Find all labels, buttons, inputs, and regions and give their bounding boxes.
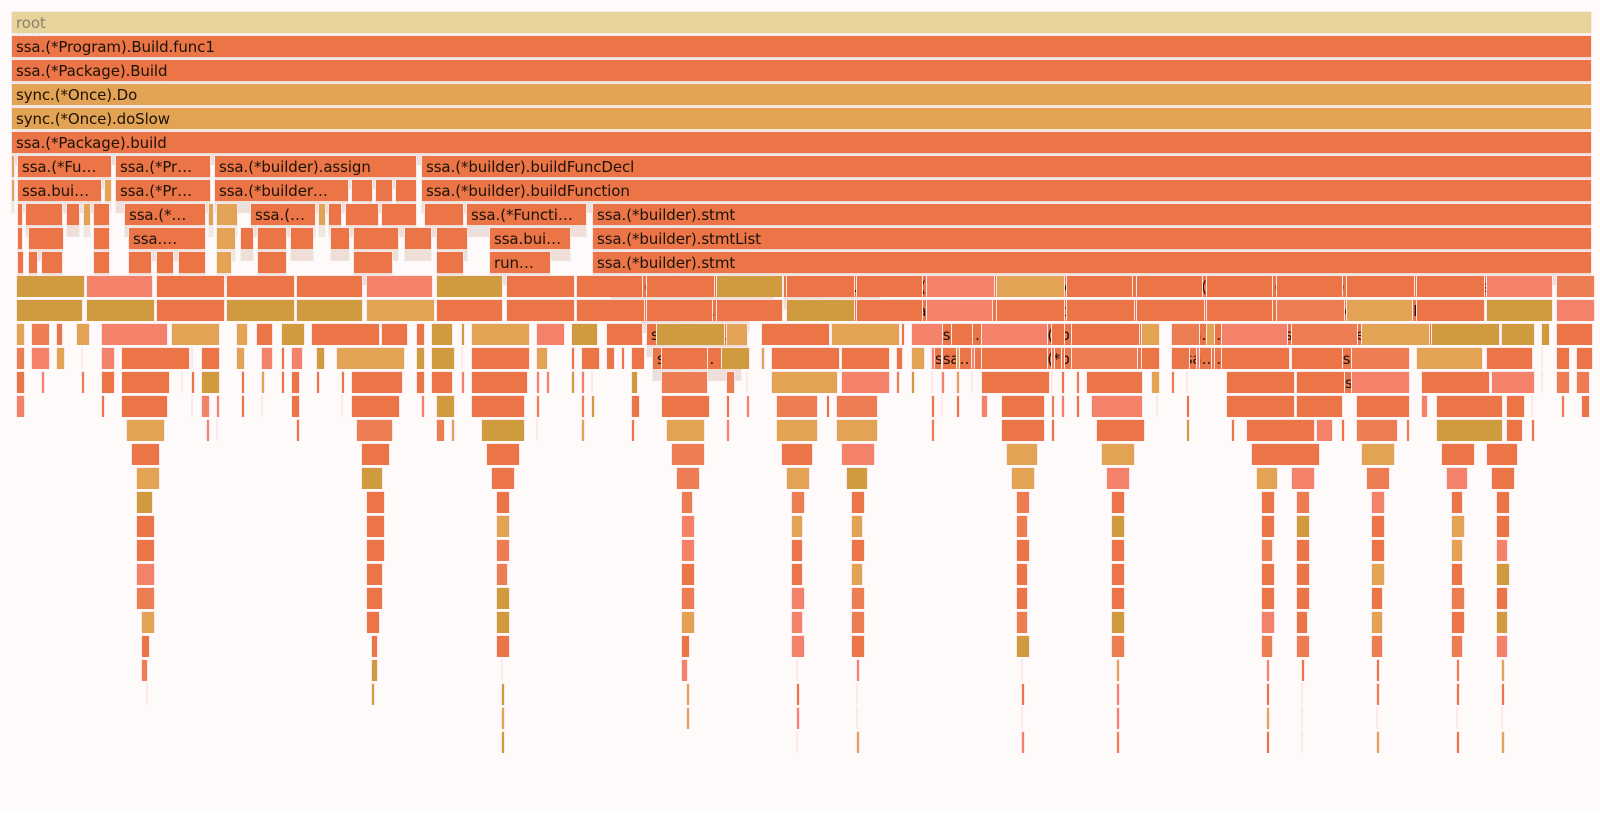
flame-frame-unlabeled[interactable] xyxy=(836,419,878,441)
flame-frame-unlabeled[interactable] xyxy=(791,563,803,585)
flame-frame-unlabeled[interactable] xyxy=(281,347,285,369)
flame-frame-unlabeled[interactable] xyxy=(421,395,425,417)
flame-frame-unlabeled[interactable] xyxy=(1451,587,1465,609)
flame-frame-unlabeled[interactable] xyxy=(1086,371,1143,393)
flame-frame-unlabeled[interactable] xyxy=(536,371,540,393)
flame-frame-unlabeled[interactable] xyxy=(241,371,245,393)
flame-frame-unlabeled[interactable] xyxy=(661,395,710,417)
flame-frame-unlabeled[interactable] xyxy=(726,419,730,441)
flame-frame-unlabeled[interactable] xyxy=(16,323,25,345)
flame-frame-unlabeled[interactable] xyxy=(1356,419,1398,441)
flame-frame-unlabeled[interactable] xyxy=(496,563,508,585)
flame-frame-unlabeled[interactable] xyxy=(1186,371,1188,393)
flame-frame[interactable]: ssa.(*builder).buildFunction xyxy=(421,179,1592,201)
flame-frame-unlabeled[interactable] xyxy=(901,323,905,345)
flame-frame-unlabeled[interactable] xyxy=(851,587,865,609)
flame-frame-unlabeled[interactable] xyxy=(786,299,855,321)
flame-frame-unlabeled[interactable] xyxy=(791,491,805,513)
flame-frame-unlabeled[interactable] xyxy=(375,179,393,201)
flame-frame-unlabeled[interactable] xyxy=(856,275,923,297)
flame-frame-unlabeled[interactable] xyxy=(666,419,705,441)
flame-frame-unlabeled[interactable] xyxy=(136,515,155,537)
flame-frame-unlabeled[interactable] xyxy=(926,299,993,321)
flame-frame-unlabeled[interactable] xyxy=(371,659,378,681)
flame-frame-unlabeled[interactable] xyxy=(1016,515,1028,537)
flame-frame-unlabeled[interactable] xyxy=(128,251,152,273)
flame-frame-unlabeled[interactable] xyxy=(771,371,838,393)
flame-frame-unlabeled[interactable] xyxy=(1261,539,1273,561)
flame-frame-unlabeled[interactable] xyxy=(1451,563,1463,585)
flame-frame-unlabeled[interactable] xyxy=(1361,323,1430,345)
flame-frame-unlabeled[interactable] xyxy=(1556,323,1593,345)
flame-frame-unlabeled[interactable] xyxy=(291,395,300,417)
flame-frame-unlabeled[interactable] xyxy=(1581,395,1590,417)
flame-frame-unlabeled[interactable] xyxy=(681,491,693,513)
flame-frame-unlabeled[interactable] xyxy=(1266,731,1270,753)
flame-frame-unlabeled[interactable] xyxy=(726,395,730,417)
flame-frame-unlabeled[interactable] xyxy=(851,539,865,561)
flame-frame-unlabeled[interactable] xyxy=(496,539,510,561)
flame-frame-unlabeled[interactable] xyxy=(1301,707,1303,729)
flame-frame-unlabeled[interactable] xyxy=(208,203,214,225)
flame-frame-unlabeled[interactable] xyxy=(1221,323,1288,345)
flame-frame-unlabeled[interactable] xyxy=(366,275,433,297)
flame-frame-unlabeled[interactable] xyxy=(836,395,878,417)
flame-frame-unlabeled[interactable] xyxy=(981,395,988,417)
flame-frame-unlabeled[interactable] xyxy=(681,563,695,585)
flame-frame-unlabeled[interactable] xyxy=(846,467,868,489)
flame-frame-unlabeled[interactable] xyxy=(956,371,960,393)
flame-frame-unlabeled[interactable] xyxy=(1116,659,1120,681)
flame-frame-unlabeled[interactable] xyxy=(1021,659,1023,681)
flame-frame-unlabeled[interactable] xyxy=(1291,323,1358,345)
flame-frame-unlabeled[interactable] xyxy=(1186,395,1190,417)
flame-frame-unlabeled[interactable] xyxy=(791,635,805,657)
flame-frame-unlabeled[interactable] xyxy=(1051,419,1055,441)
flame-frame-unlabeled[interactable] xyxy=(257,227,287,249)
flame-frame-unlabeled[interactable] xyxy=(1356,395,1410,417)
flame-frame-unlabeled[interactable] xyxy=(451,419,455,441)
flame-frame-unlabeled[interactable] xyxy=(536,347,548,369)
flame-frame-unlabeled[interactable] xyxy=(1151,371,1160,393)
flame-frame-unlabeled[interactable] xyxy=(571,347,575,369)
flame-frame-unlabeled[interactable] xyxy=(576,275,643,297)
flame-frame-unlabeled[interactable] xyxy=(676,467,700,489)
flame-frame-unlabeled[interactable] xyxy=(1266,683,1270,705)
flame-frame-unlabeled[interactable] xyxy=(345,203,379,225)
flame-frame-unlabeled[interactable] xyxy=(66,203,80,225)
flame-frame-unlabeled[interactable] xyxy=(1266,659,1270,681)
flame-frame[interactable]: ssa.(*Functi… xyxy=(466,203,587,225)
flame-frame-unlabeled[interactable] xyxy=(1206,275,1273,297)
flame-frame-unlabeled[interactable] xyxy=(1421,371,1490,393)
flame-frame-unlabeled[interactable] xyxy=(1296,515,1310,537)
flame-frame-unlabeled[interactable] xyxy=(1261,587,1275,609)
flame-frame-unlabeled[interactable] xyxy=(16,371,25,393)
flame-frame-unlabeled[interactable] xyxy=(146,683,148,705)
flame-frame-unlabeled[interactable] xyxy=(1006,443,1038,465)
flame-frame-unlabeled[interactable] xyxy=(1196,347,1200,369)
flame-frame-unlabeled[interactable] xyxy=(646,299,713,321)
flame-frame-unlabeled[interactable] xyxy=(1016,491,1030,513)
flame-frame-unlabeled[interactable] xyxy=(181,371,183,393)
flame-frame-unlabeled[interactable] xyxy=(1296,371,1345,393)
flame-frame-unlabeled[interactable] xyxy=(1506,419,1523,441)
flame-frame-unlabeled[interactable] xyxy=(16,299,83,321)
flame-frame-unlabeled[interactable] xyxy=(1066,275,1133,297)
flame-frame-unlabeled[interactable] xyxy=(216,227,236,249)
flame-frame-unlabeled[interactable] xyxy=(1186,419,1190,441)
flame-frame-unlabeled[interactable] xyxy=(1226,395,1295,417)
flame-frame-unlabeled[interactable] xyxy=(496,611,510,633)
flame-frame-unlabeled[interactable] xyxy=(796,731,798,753)
flame-frame-unlabeled[interactable] xyxy=(216,395,220,417)
flame-frame-unlabeled[interactable] xyxy=(1116,683,1120,705)
flame-frame-unlabeled[interactable] xyxy=(83,203,91,225)
flame-frame-unlabeled[interactable] xyxy=(1371,515,1385,537)
flame-frame-unlabeled[interactable] xyxy=(1371,611,1383,633)
flame-frame-unlabeled[interactable] xyxy=(661,371,708,393)
flame-frame-unlabeled[interactable] xyxy=(591,395,595,417)
flame-frame-unlabeled[interactable] xyxy=(191,395,193,417)
flame-frame-unlabeled[interactable] xyxy=(791,539,803,561)
flame-frame-unlabeled[interactable] xyxy=(536,323,565,345)
flame-frame[interactable]: ssa.(*Pr… xyxy=(115,155,211,177)
flame-frame-unlabeled[interactable] xyxy=(1541,371,1543,393)
flame-frame-unlabeled[interactable] xyxy=(1206,323,1215,345)
flame-frame-unlabeled[interactable] xyxy=(1076,395,1080,417)
flame-frame-unlabeled[interactable] xyxy=(121,395,168,417)
flame-frame-unlabeled[interactable] xyxy=(536,395,540,417)
flame-frame-unlabeled[interactable] xyxy=(506,299,575,321)
flame-frame-unlabeled[interactable] xyxy=(76,323,90,345)
flame-frame-unlabeled[interactable] xyxy=(851,515,863,537)
flame-frame-unlabeled[interactable] xyxy=(1301,659,1305,681)
flame-frame-unlabeled[interactable] xyxy=(761,347,765,369)
flame-frame-unlabeled[interactable] xyxy=(226,275,295,297)
flame-frame-unlabeled[interactable] xyxy=(1261,635,1273,657)
flame-frame-unlabeled[interactable] xyxy=(681,659,688,681)
flame-frame-unlabeled[interactable] xyxy=(1431,323,1500,345)
flame-frame-unlabeled[interactable] xyxy=(17,227,23,249)
flame-frame-unlabeled[interactable] xyxy=(1291,467,1315,489)
flame-frame-unlabeled[interactable] xyxy=(156,275,225,297)
flame-frame-unlabeled[interactable] xyxy=(956,395,960,417)
flame-frame-unlabeled[interactable] xyxy=(771,347,840,369)
flame-frame-unlabeled[interactable] xyxy=(856,707,858,729)
flame-frame-unlabeled[interactable] xyxy=(971,371,973,393)
flame-frame-unlabeled[interactable] xyxy=(1501,323,1535,345)
flame-frame-unlabeled[interactable] xyxy=(581,347,600,369)
flame-frame-unlabeled[interactable] xyxy=(261,371,265,393)
flame-frame-unlabeled[interactable] xyxy=(416,347,425,369)
flame-frame-unlabeled[interactable] xyxy=(1296,611,1308,633)
flame-frame-unlabeled[interactable] xyxy=(1061,371,1065,393)
flame-frame-unlabeled[interactable] xyxy=(126,419,165,441)
flame-frame-unlabeled[interactable] xyxy=(471,347,530,369)
flame-frame[interactable]: ssa.(*builder).stmt xyxy=(592,203,1592,225)
flame-frame-unlabeled[interactable] xyxy=(351,179,373,201)
flame-frame-unlabeled[interactable] xyxy=(381,203,417,225)
flame-frame-unlabeled[interactable] xyxy=(791,611,803,633)
flame-frame-unlabeled[interactable] xyxy=(1506,395,1525,417)
flame-frame-unlabeled[interactable] xyxy=(911,323,943,345)
flame-frame-unlabeled[interactable] xyxy=(311,323,380,345)
flame-frame-unlabeled[interactable] xyxy=(856,659,860,681)
flame-frame-unlabeled[interactable] xyxy=(1246,419,1315,441)
flame-frame-unlabeled[interactable] xyxy=(226,299,295,321)
flame-frame-unlabeled[interactable] xyxy=(786,275,855,297)
flame-frame-unlabeled[interactable] xyxy=(1351,347,1410,369)
flame-frame-unlabeled[interactable] xyxy=(136,539,155,561)
flame-frame-unlabeled[interactable] xyxy=(1111,515,1125,537)
flame-frame-unlabeled[interactable] xyxy=(941,395,943,417)
flame-frame-unlabeled[interactable] xyxy=(581,371,585,393)
flame-frame-unlabeled[interactable] xyxy=(941,371,945,393)
flame-frame-unlabeled[interactable] xyxy=(316,371,320,393)
flame-frame[interactable]: sync.(*Once).Do xyxy=(11,83,1592,105)
flame-frame-unlabeled[interactable] xyxy=(1096,419,1145,441)
flame-frame-unlabeled[interactable] xyxy=(1361,443,1395,465)
flame-frame-unlabeled[interactable] xyxy=(141,659,148,681)
flame-frame[interactable]: ssa.(*builder… xyxy=(214,179,349,201)
flame-frame-unlabeled[interactable] xyxy=(1366,467,1390,489)
flame-frame-unlabeled[interactable] xyxy=(1451,515,1465,537)
flame-frame-unlabeled[interactable] xyxy=(686,707,690,729)
flame-frame-unlabeled[interactable] xyxy=(1071,347,1138,369)
flame-frame-unlabeled[interactable] xyxy=(56,323,63,345)
flame-frame-unlabeled[interactable] xyxy=(851,491,865,513)
flame-frame-unlabeled[interactable] xyxy=(681,611,695,633)
flame-frame-unlabeled[interactable] xyxy=(1051,371,1053,393)
flame-frame-unlabeled[interactable] xyxy=(1021,683,1025,705)
flame-frame-unlabeled[interactable] xyxy=(281,323,305,345)
flame-frame-unlabeled[interactable] xyxy=(926,275,995,297)
flame-frame-unlabeled[interactable] xyxy=(576,299,645,321)
flame-frame-unlabeled[interactable] xyxy=(471,323,530,345)
flame-frame-unlabeled[interactable] xyxy=(81,347,83,369)
flame-frame-unlabeled[interactable] xyxy=(1011,467,1035,489)
flame-frame-unlabeled[interactable] xyxy=(1051,395,1055,417)
flame-frame-unlabeled[interactable] xyxy=(631,371,638,393)
flame-frame[interactable]: ssa.(*builder).buildFuncDecl xyxy=(421,155,1592,177)
flame-frame-unlabeled[interactable] xyxy=(496,635,510,657)
flame-frame-unlabeled[interactable] xyxy=(136,467,160,489)
flame-frame-unlabeled[interactable] xyxy=(1136,275,1203,297)
flame-frame-unlabeled[interactable] xyxy=(956,347,960,369)
flame-frame[interactable]: ssa.bui… xyxy=(489,227,571,249)
flame-frame-unlabeled[interactable] xyxy=(336,347,405,369)
flame-frame-unlabeled[interactable] xyxy=(1496,539,1508,561)
flame-frame-unlabeled[interactable] xyxy=(1111,563,1125,585)
flame-frame-unlabeled[interactable] xyxy=(28,251,38,273)
flame-frame-unlabeled[interactable] xyxy=(631,395,640,417)
flame-frame-unlabeled[interactable] xyxy=(416,371,425,393)
flame-frame-unlabeled[interactable] xyxy=(1111,611,1125,633)
flame-frame-unlabeled[interactable] xyxy=(1351,371,1410,393)
flame-frame-unlabeled[interactable] xyxy=(366,515,385,537)
flame-frame-unlabeled[interactable] xyxy=(136,587,155,609)
flame-frame[interactable]: ssa.(*builder).assign xyxy=(214,155,417,177)
flame-frame-unlabeled[interactable] xyxy=(981,347,1048,369)
flame-frame-unlabeled[interactable] xyxy=(436,419,445,441)
flame-frame-unlabeled[interactable] xyxy=(104,179,112,201)
flame-frame-unlabeled[interactable] xyxy=(366,587,383,609)
flame-frame-unlabeled[interactable] xyxy=(1531,419,1535,441)
flame-frame-unlabeled[interactable] xyxy=(841,347,890,369)
flame-frame[interactable]: ssa.(*Program).Build.func1 xyxy=(11,35,1592,57)
flame-frame[interactable]: ssa.bui… xyxy=(17,179,102,201)
flame-frame-unlabeled[interactable] xyxy=(1206,299,1273,321)
flame-frame-unlabeled[interactable] xyxy=(1456,707,1458,729)
flame-frame-unlabeled[interactable] xyxy=(1451,635,1463,657)
flame-frame-unlabeled[interactable] xyxy=(216,419,218,441)
flame-frame-unlabeled[interactable] xyxy=(356,419,393,441)
flame-frame-unlabeled[interactable] xyxy=(25,203,63,225)
flame-frame-unlabeled[interactable] xyxy=(1416,275,1485,297)
flame-frame-unlabeled[interactable] xyxy=(341,395,343,417)
flame-frame-unlabeled[interactable] xyxy=(1301,683,1303,705)
flame-frame-unlabeled[interactable] xyxy=(1141,323,1160,345)
flame-graph[interactable]: rootssa.(*Program).Build.func1ssa.(*Pack… xyxy=(0,0,1600,811)
flame-frame-unlabeled[interactable] xyxy=(501,731,505,753)
flame-frame-unlabeled[interactable] xyxy=(896,347,903,369)
flame-frame-unlabeled[interactable] xyxy=(826,395,830,417)
flame-frame-unlabeled[interactable] xyxy=(431,323,453,345)
flame-frame-unlabeled[interactable] xyxy=(395,179,417,201)
flame-frame-unlabeled[interactable] xyxy=(851,611,865,633)
flame-frame-unlabeled[interactable] xyxy=(501,659,503,681)
flame-frame-unlabeled[interactable] xyxy=(1486,299,1553,321)
flame-frame-unlabeled[interactable] xyxy=(1111,587,1125,609)
flame-frame-unlabeled[interactable] xyxy=(101,347,115,369)
flame-frame-unlabeled[interactable] xyxy=(461,371,465,393)
flame-frame-unlabeled[interactable] xyxy=(841,371,890,393)
flame-frame-unlabeled[interactable] xyxy=(656,323,725,345)
flame-frame-unlabeled[interactable] xyxy=(761,323,830,345)
flame-frame-unlabeled[interactable] xyxy=(1116,731,1120,753)
flame-frame-unlabeled[interactable] xyxy=(1266,707,1270,729)
flame-frame-unlabeled[interactable] xyxy=(1016,539,1030,561)
flame-frame-unlabeled[interactable] xyxy=(726,323,748,345)
flame-frame[interactable]: ssa.(*builder).stmtList xyxy=(592,227,1592,249)
flame-frame-unlabeled[interactable] xyxy=(291,347,303,369)
flame-frame-unlabeled[interactable] xyxy=(351,395,400,417)
flame-frame-unlabeled[interactable] xyxy=(1416,299,1485,321)
flame-frame-unlabeled[interactable] xyxy=(776,395,818,417)
flame-frame-unlabeled[interactable] xyxy=(506,275,575,297)
flame-frame-unlabeled[interactable] xyxy=(631,419,635,441)
flame-frame-unlabeled[interactable] xyxy=(216,251,232,273)
flame-frame-unlabeled[interactable] xyxy=(1441,443,1475,465)
flame-frame-unlabeled[interactable] xyxy=(1376,707,1378,729)
flame-frame-unlabeled[interactable] xyxy=(841,443,875,465)
flame-frame-unlabeled[interactable] xyxy=(341,371,345,393)
flame-frame-unlabeled[interactable] xyxy=(791,515,803,537)
flame-frame[interactable]: sync.(*Once).doSlow xyxy=(11,107,1592,129)
flame-frame-unlabeled[interactable] xyxy=(236,323,248,345)
flame-frame-unlabeled[interactable] xyxy=(236,347,245,369)
flame-frame[interactable]: ssa.(… xyxy=(250,203,316,225)
flame-frame-unlabeled[interactable] xyxy=(546,371,550,393)
flame-frame-unlabeled[interactable] xyxy=(1261,491,1275,513)
flame-frame-unlabeled[interactable] xyxy=(1156,395,1158,417)
flame-frame-unlabeled[interactable] xyxy=(56,347,65,369)
flame-frame-unlabeled[interactable] xyxy=(646,275,715,297)
flame-frame-unlabeled[interactable] xyxy=(261,395,263,417)
flame-frame-unlabeled[interactable] xyxy=(536,419,538,441)
flame-frame-unlabeled[interactable] xyxy=(796,683,800,705)
flame-frame-unlabeled[interactable] xyxy=(178,251,206,273)
flame-frame-unlabeled[interactable] xyxy=(257,251,287,273)
flame-frame-unlabeled[interactable] xyxy=(1501,659,1505,681)
flame-frame-unlabeled[interactable] xyxy=(1341,419,1345,441)
flame-frame[interactable]: ssa.(*builder).stmt xyxy=(592,251,1592,273)
flame-frame-unlabeled[interactable] xyxy=(16,395,25,417)
flame-frame-unlabeled[interactable] xyxy=(28,227,64,249)
flame-frame-unlabeled[interactable] xyxy=(1456,731,1460,753)
flame-frame-unlabeled[interactable] xyxy=(1051,323,1065,345)
flame-frame-unlabeled[interactable] xyxy=(1376,683,1380,705)
flame-frame-unlabeled[interactable] xyxy=(206,419,210,441)
flame-frame-unlabeled[interactable] xyxy=(726,371,735,393)
flame-frame-unlabeled[interactable] xyxy=(681,515,695,537)
flame-frame-unlabeled[interactable] xyxy=(1106,467,1130,489)
flame-frame-unlabeled[interactable] xyxy=(216,203,238,225)
flame-frame-unlabeled[interactable] xyxy=(1276,275,1343,297)
flame-frame-unlabeled[interactable] xyxy=(1276,299,1345,321)
flame-frame-unlabeled[interactable] xyxy=(1501,731,1505,753)
flame-frame-unlabeled[interactable] xyxy=(941,347,943,369)
flame-frame-unlabeled[interactable] xyxy=(41,251,63,273)
flame-frame-unlabeled[interactable] xyxy=(996,275,1065,297)
flame-frame-unlabeled[interactable] xyxy=(1496,611,1508,633)
flame-frame-unlabeled[interactable] xyxy=(1231,419,1235,441)
flame-frame-unlabeled[interactable] xyxy=(1001,395,1045,417)
flame-frame-unlabeled[interactable] xyxy=(1061,395,1065,417)
flame-frame-unlabeled[interactable] xyxy=(1556,275,1595,297)
flame-frame-unlabeled[interactable] xyxy=(1541,323,1550,345)
flame-frame-unlabeled[interactable] xyxy=(471,395,525,417)
flame-frame-unlabeled[interactable] xyxy=(86,299,155,321)
flame-frame[interactable]: ssa.(*Package).build xyxy=(11,131,1592,153)
flame-frame-unlabeled[interactable] xyxy=(296,419,300,441)
flame-frame-unlabeled[interactable] xyxy=(131,443,160,465)
flame-frame-unlabeled[interactable] xyxy=(931,371,933,393)
flame-frame-unlabeled[interactable] xyxy=(896,371,900,393)
flame-frame-unlabeled[interactable] xyxy=(86,275,153,297)
flame-frame-unlabeled[interactable] xyxy=(1111,491,1125,513)
flame-frame-unlabeled[interactable] xyxy=(496,515,510,537)
flame-frame-unlabeled[interactable] xyxy=(93,203,110,225)
flame-frame-unlabeled[interactable] xyxy=(171,323,220,345)
flame-frame-unlabeled[interactable] xyxy=(1316,419,1333,441)
flame-frame-unlabeled[interactable] xyxy=(1021,731,1025,753)
flame-frame-unlabeled[interactable] xyxy=(1446,467,1468,489)
flame-frame-unlabeled[interactable] xyxy=(11,155,15,177)
flame-frame[interactable]: run… xyxy=(489,251,551,273)
flame-frame-unlabeled[interactable] xyxy=(17,203,23,225)
flame-frame-unlabeled[interactable] xyxy=(424,203,464,225)
flame-frame-unlabeled[interactable] xyxy=(971,347,975,369)
flame-frame-unlabeled[interactable] xyxy=(481,419,525,441)
flame-frame-unlabeled[interactable] xyxy=(1346,275,1415,297)
flame-frame-unlabeled[interactable] xyxy=(721,347,750,369)
flame-frame-unlabeled[interactable] xyxy=(831,323,900,345)
flame-frame-unlabeled[interactable] xyxy=(121,347,190,369)
flame-frame-unlabeled[interactable] xyxy=(856,683,858,705)
flame-frame-unlabeled[interactable] xyxy=(366,539,385,561)
